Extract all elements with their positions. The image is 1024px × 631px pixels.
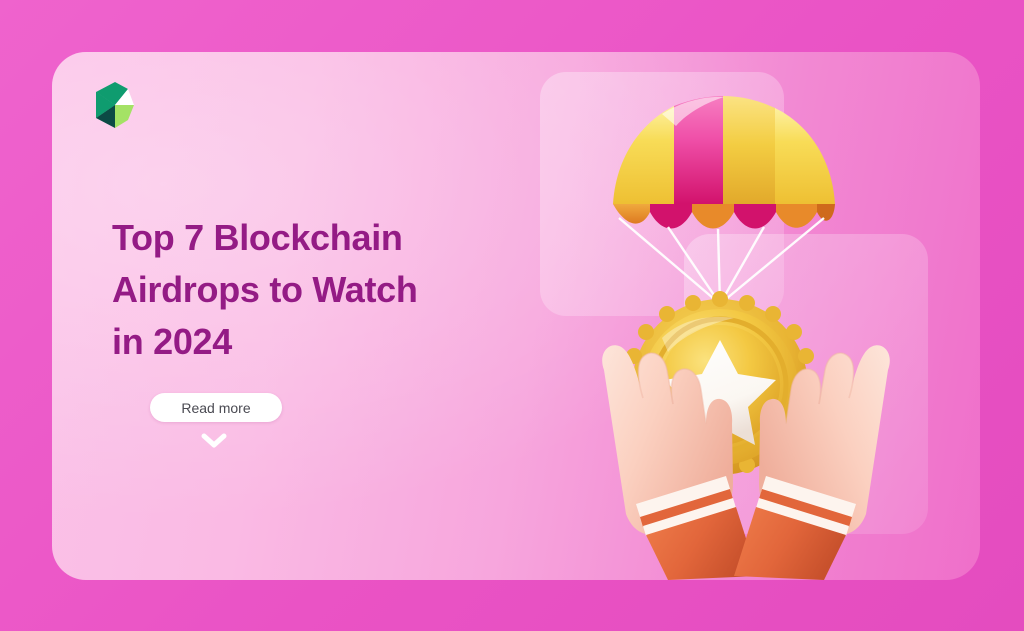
airdrop-illustration [512, 52, 980, 580]
page-title: Top 7 Blockchain Airdrops to Watch in 20… [112, 212, 532, 367]
chevron-down-icon[interactable] [200, 432, 228, 450]
banner-card: Top 7 Blockchain Airdrops to Watch in 20… [52, 52, 980, 580]
hexagon-cube-logo[interactable] [84, 74, 146, 136]
copy-column: Top 7 Blockchain Airdrops to Watch in 20… [112, 212, 532, 450]
read-more-button[interactable]: Read more [150, 393, 282, 422]
cta-group: Read more [150, 393, 532, 450]
page-background: Top 7 Blockchain Airdrops to Watch in 20… [0, 0, 1024, 631]
